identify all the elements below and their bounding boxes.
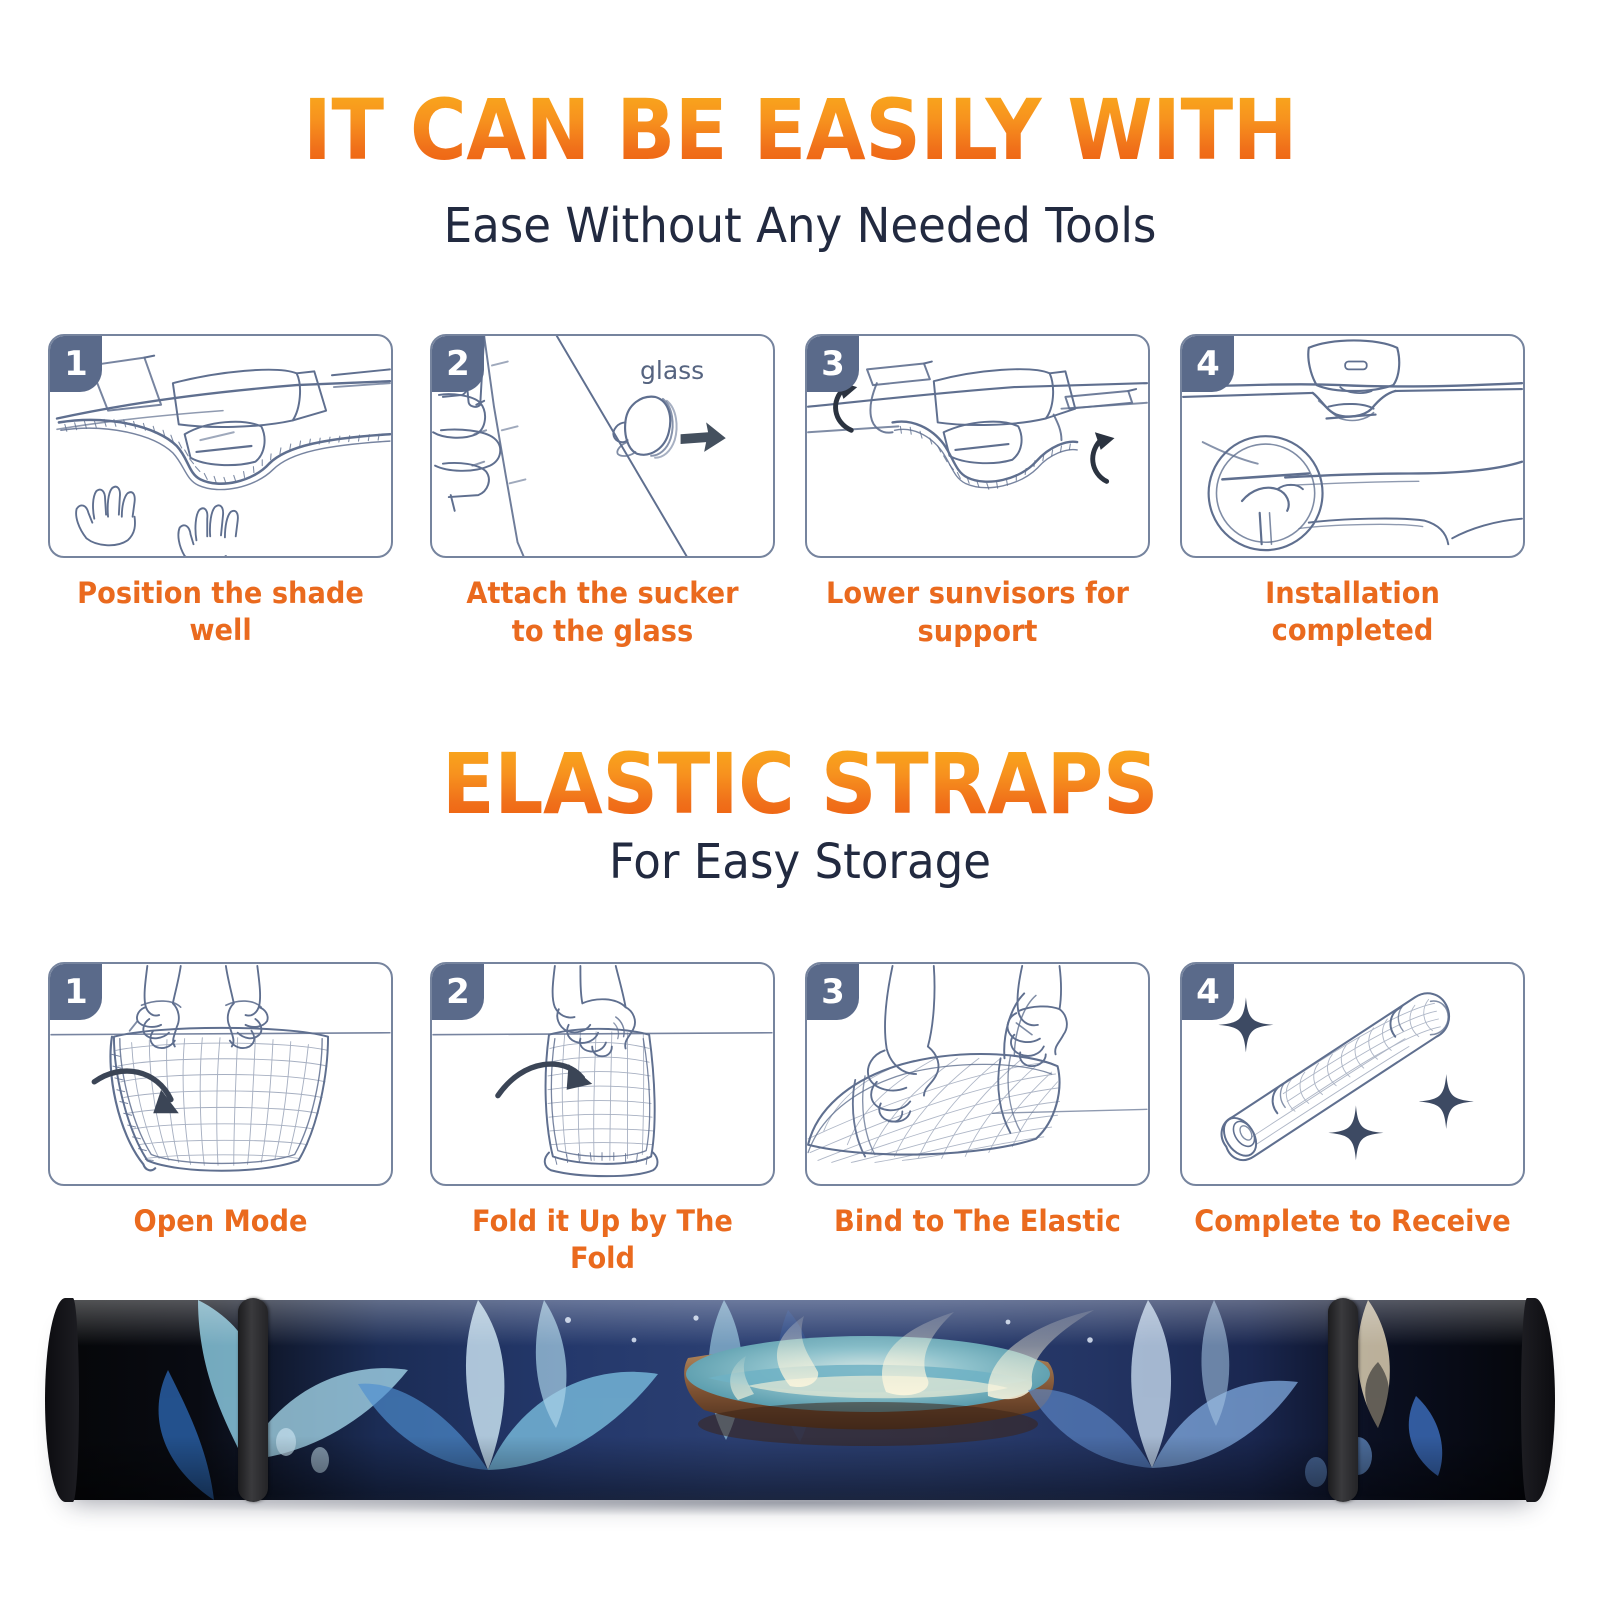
step-card-install-3[interactable]: 3 xyxy=(805,334,1150,650)
page-subtitle-storage: For Easy Storage xyxy=(48,838,1552,886)
elastic-strap-right xyxy=(1328,1298,1358,1502)
step-card-frame: 2 xyxy=(430,334,775,558)
step-number-badge: 1 xyxy=(50,336,102,392)
step-number-badge: 3 xyxy=(807,964,859,1020)
step-card-install-1[interactable]: 1 xyxy=(48,334,393,649)
step-number-badge: 3 xyxy=(807,336,859,392)
installation-subtitle-block: Ease Without Any Needed Tools xyxy=(0,202,1600,250)
installation-title-block: IT CAN BE EASILY WITH xyxy=(0,88,1600,172)
step-card-install-2[interactable]: 2 xyxy=(430,334,775,650)
step-card-frame: 3 xyxy=(805,962,1150,1186)
page-title-storage: ELASTIC STRAPS xyxy=(64,742,1536,826)
step-caption: Complete to Receive xyxy=(1190,1203,1514,1240)
step-caption: Attach the sucker to the glass xyxy=(440,575,764,650)
step-caption: Installation completed xyxy=(1190,575,1514,649)
roll-end-cap-left xyxy=(45,1298,79,1502)
page-title-installation: IT CAN BE EASILY WITH xyxy=(64,88,1536,172)
step-card-storage-3[interactable]: 3 xyxy=(805,962,1150,1240)
step-card-frame: 1 xyxy=(48,962,393,1186)
step-number-badge: 2 xyxy=(432,336,484,392)
step-caption: Fold it Up by The Fold xyxy=(440,1203,764,1277)
step-card-frame: 3 xyxy=(805,334,1150,558)
step-number-badge: 4 xyxy=(1182,336,1234,392)
storage-title-block: ELASTIC STRAPS xyxy=(0,742,1600,826)
floral-print-artwork xyxy=(48,1300,1552,1500)
step-number-badge: 2 xyxy=(432,964,484,1020)
step-card-frame: 2 xyxy=(430,962,775,1186)
step-card-storage-1[interactable]: 1 xyxy=(48,962,393,1240)
page-subtitle-installation: Ease Without Any Needed Tools xyxy=(48,202,1552,250)
step-card-frame: 1 xyxy=(48,334,393,558)
step-number-badge: 1 xyxy=(50,964,102,1020)
step-number-badge: 4 xyxy=(1182,964,1234,1020)
storage-subtitle-block: For Easy Storage xyxy=(0,838,1600,886)
annotation-glass-label: glass xyxy=(640,356,704,385)
step-caption: Open Mode xyxy=(58,1203,382,1240)
step-caption: Bind to The Elastic xyxy=(815,1203,1139,1240)
step-card-frame: 4 xyxy=(1180,334,1525,558)
step-card-install-4[interactable]: 4 xyxy=(1180,334,1525,649)
step-card-frame: 4 xyxy=(1180,962,1525,1186)
step-card-storage-4[interactable]: 4 xyxy=(1180,962,1525,1240)
elastic-strap-left xyxy=(238,1298,268,1502)
rolled-shade-body xyxy=(48,1300,1552,1500)
step-caption: Position the shade well xyxy=(58,575,382,649)
step-card-storage-2[interactable]: 2 xyxy=(430,962,775,1277)
product-photo-rolled-sunshade xyxy=(48,1300,1552,1500)
step-caption: Lower sunvisors for support xyxy=(815,575,1139,650)
product-drop-shadow xyxy=(118,1490,1482,1516)
